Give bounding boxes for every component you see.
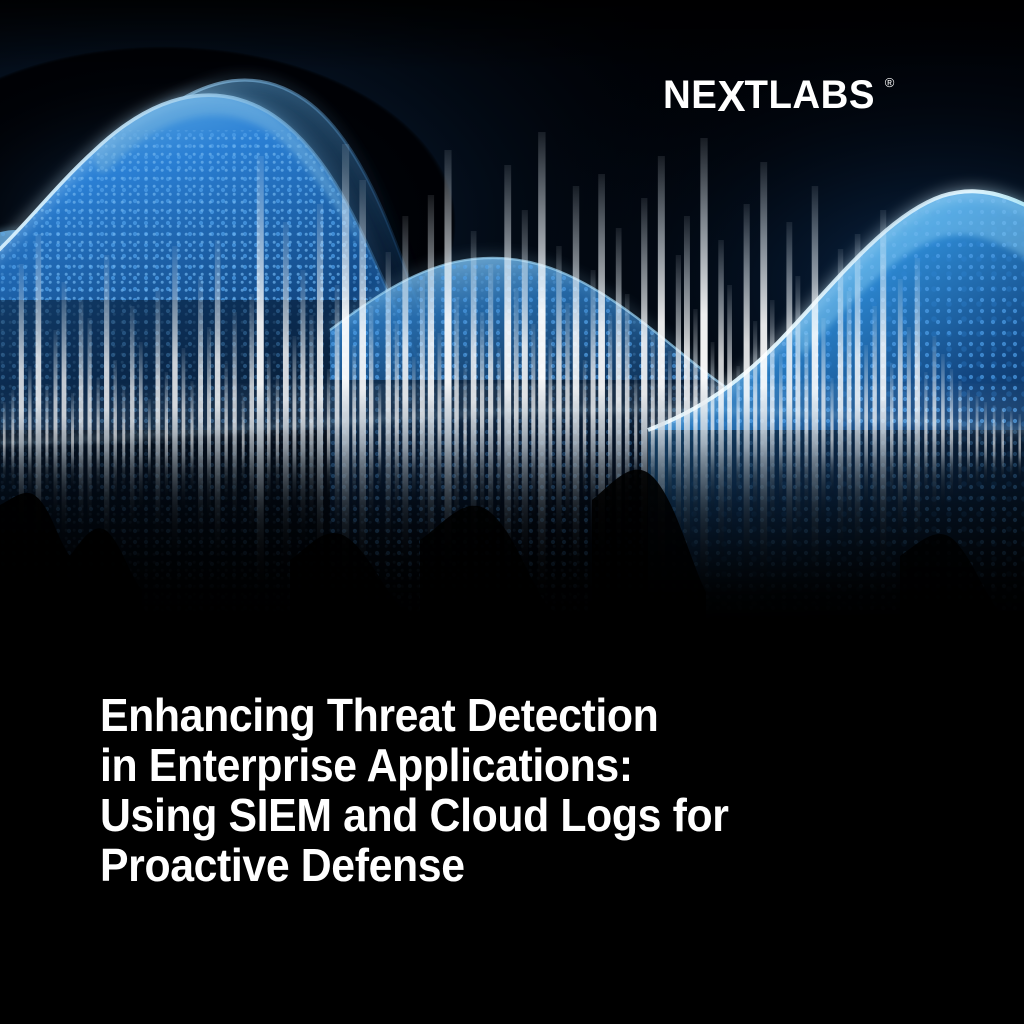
waveform-bar (744, 204, 750, 573)
waveform-bar (830, 378, 833, 496)
waveform-bar (113, 360, 116, 504)
waveform-bar (838, 249, 843, 553)
waveform-bar (976, 396, 979, 488)
waveform-bar (497, 348, 501, 509)
waveform-bar (573, 186, 579, 581)
waveform-bar (727, 285, 732, 537)
waveform-bar (779, 354, 783, 506)
logo-stylized-x-glyph: X (717, 77, 744, 117)
waveform-bar (718, 240, 724, 557)
waveform-bar (736, 366, 739, 501)
social-media-poster: NEXTLABS ® Enhancing Threat Detection in… (0, 0, 1024, 1024)
waveform-bar (249, 294, 254, 533)
waveform-bar (104, 255, 109, 550)
waveform-bar (760, 162, 767, 591)
waveform-bar (538, 132, 545, 605)
waveform-bar (335, 285, 340, 537)
waveform-bar (880, 210, 886, 570)
waveform-bar (267, 354, 271, 506)
waveform-bar (342, 144, 349, 599)
logo-text-ne: NE (663, 73, 717, 117)
waveform-bar (283, 222, 289, 565)
waveform-bar (172, 246, 177, 554)
waveform-bar (463, 366, 466, 501)
waveform-bar (967, 390, 970, 490)
waveform-bar (958, 381, 961, 494)
waveform-bar (480, 312, 484, 525)
waveform-bar (915, 258, 920, 549)
waveform-bar (770, 300, 774, 530)
waveform-bar (359, 180, 366, 583)
waveform-bar (753, 321, 757, 521)
waveform-bar (1010, 411, 1013, 481)
waveform-bar (139, 342, 143, 512)
waveform-bar (950, 369, 953, 500)
waveform-bar (890, 363, 893, 502)
waveform-bar (514, 288, 519, 536)
waveform-bar (352, 345, 356, 510)
waveform-bar (693, 309, 697, 526)
waveform-bar (549, 339, 553, 513)
headline-line-4: Proactive Defense (100, 840, 918, 890)
waveform-bar (386, 252, 391, 551)
waveform-bar (847, 291, 852, 534)
waveform-bar (684, 216, 690, 567)
waveform-bar (872, 306, 876, 528)
headline-line-3: Using SIEM and Cloud Logs for (100, 790, 918, 840)
waveform-bar (864, 345, 868, 510)
waveform-bar (130, 306, 134, 528)
waveform-bar (165, 372, 168, 498)
waveform-bar (97, 378, 100, 496)
waveform-bar (531, 324, 535, 520)
registered-trademark-icon: ® (885, 76, 895, 89)
waveform-bar (242, 396, 245, 488)
waveform-bar (583, 360, 586, 504)
waveform-bar (233, 312, 237, 525)
waveform-bar (993, 405, 996, 484)
waveform-bar (207, 327, 211, 518)
waveform-bar (812, 186, 818, 581)
waveform-bar (1001, 408, 1004, 482)
headline-line-1: Enhancing Threat Detection (100, 690, 918, 740)
waveform-bar (156, 288, 161, 536)
waveform-bar (454, 297, 459, 532)
waveform-bar (795, 276, 800, 541)
waveform-bar (556, 246, 561, 554)
waveform-bar (395, 321, 399, 521)
waveform-bar (924, 372, 927, 498)
waveform-bar (327, 369, 330, 500)
waveform-bar (522, 210, 528, 570)
waveform-bar (821, 318, 825, 522)
waveform-bar (276, 375, 279, 497)
headline-line-2: in Enterprise Applications: (100, 740, 918, 790)
headline-block: Enhancing Threat Detection in Enterprise… (100, 690, 980, 890)
waveform-bar (488, 264, 493, 546)
waveform-bar (122, 387, 125, 492)
waveform-bar (1018, 414, 1021, 480)
waveform-bar (898, 279, 903, 540)
waveform-bar (224, 363, 227, 502)
waveform-bar (148, 399, 151, 486)
waveform-bar (855, 234, 861, 559)
waveform-bar (402, 216, 408, 567)
waveform-bar (378, 384, 381, 493)
waveform-bar (932, 336, 936, 514)
waveform-bar (676, 255, 681, 550)
waveform-bar (198, 276, 203, 541)
waveform-bar (292, 336, 296, 514)
waveform-bar (412, 357, 415, 505)
waveform-bar (428, 195, 434, 577)
waveform-bar (182, 348, 186, 509)
waveform-bar (369, 306, 373, 528)
waveform-bar (420, 276, 425, 541)
waveform-bar (786, 222, 792, 565)
waveform-bar (257, 156, 264, 594)
waveform-bar (804, 333, 808, 516)
waveform-bar (700, 138, 707, 602)
waveform-bar (668, 351, 672, 508)
logo-text-tlabs: TLABS (745, 73, 875, 117)
waveform-bar (190, 381, 193, 494)
waveform-bar (907, 327, 911, 518)
waveform-bar (565, 303, 569, 529)
waveform-bar (317, 204, 323, 573)
waveform-bar (309, 315, 313, 524)
waveform-bar (215, 240, 221, 557)
nextlabs-logo[interactable]: NEXTLABS ® (663, 74, 894, 115)
logo-wordmark: NEXTLABS (663, 74, 875, 115)
waveform-bar (300, 270, 305, 544)
waveform-bar (941, 354, 945, 506)
waveform-bar (984, 402, 987, 485)
waveform-bar (504, 165, 511, 590)
waveform-bar (711, 342, 715, 512)
waveform-bar (438, 333, 442, 516)
